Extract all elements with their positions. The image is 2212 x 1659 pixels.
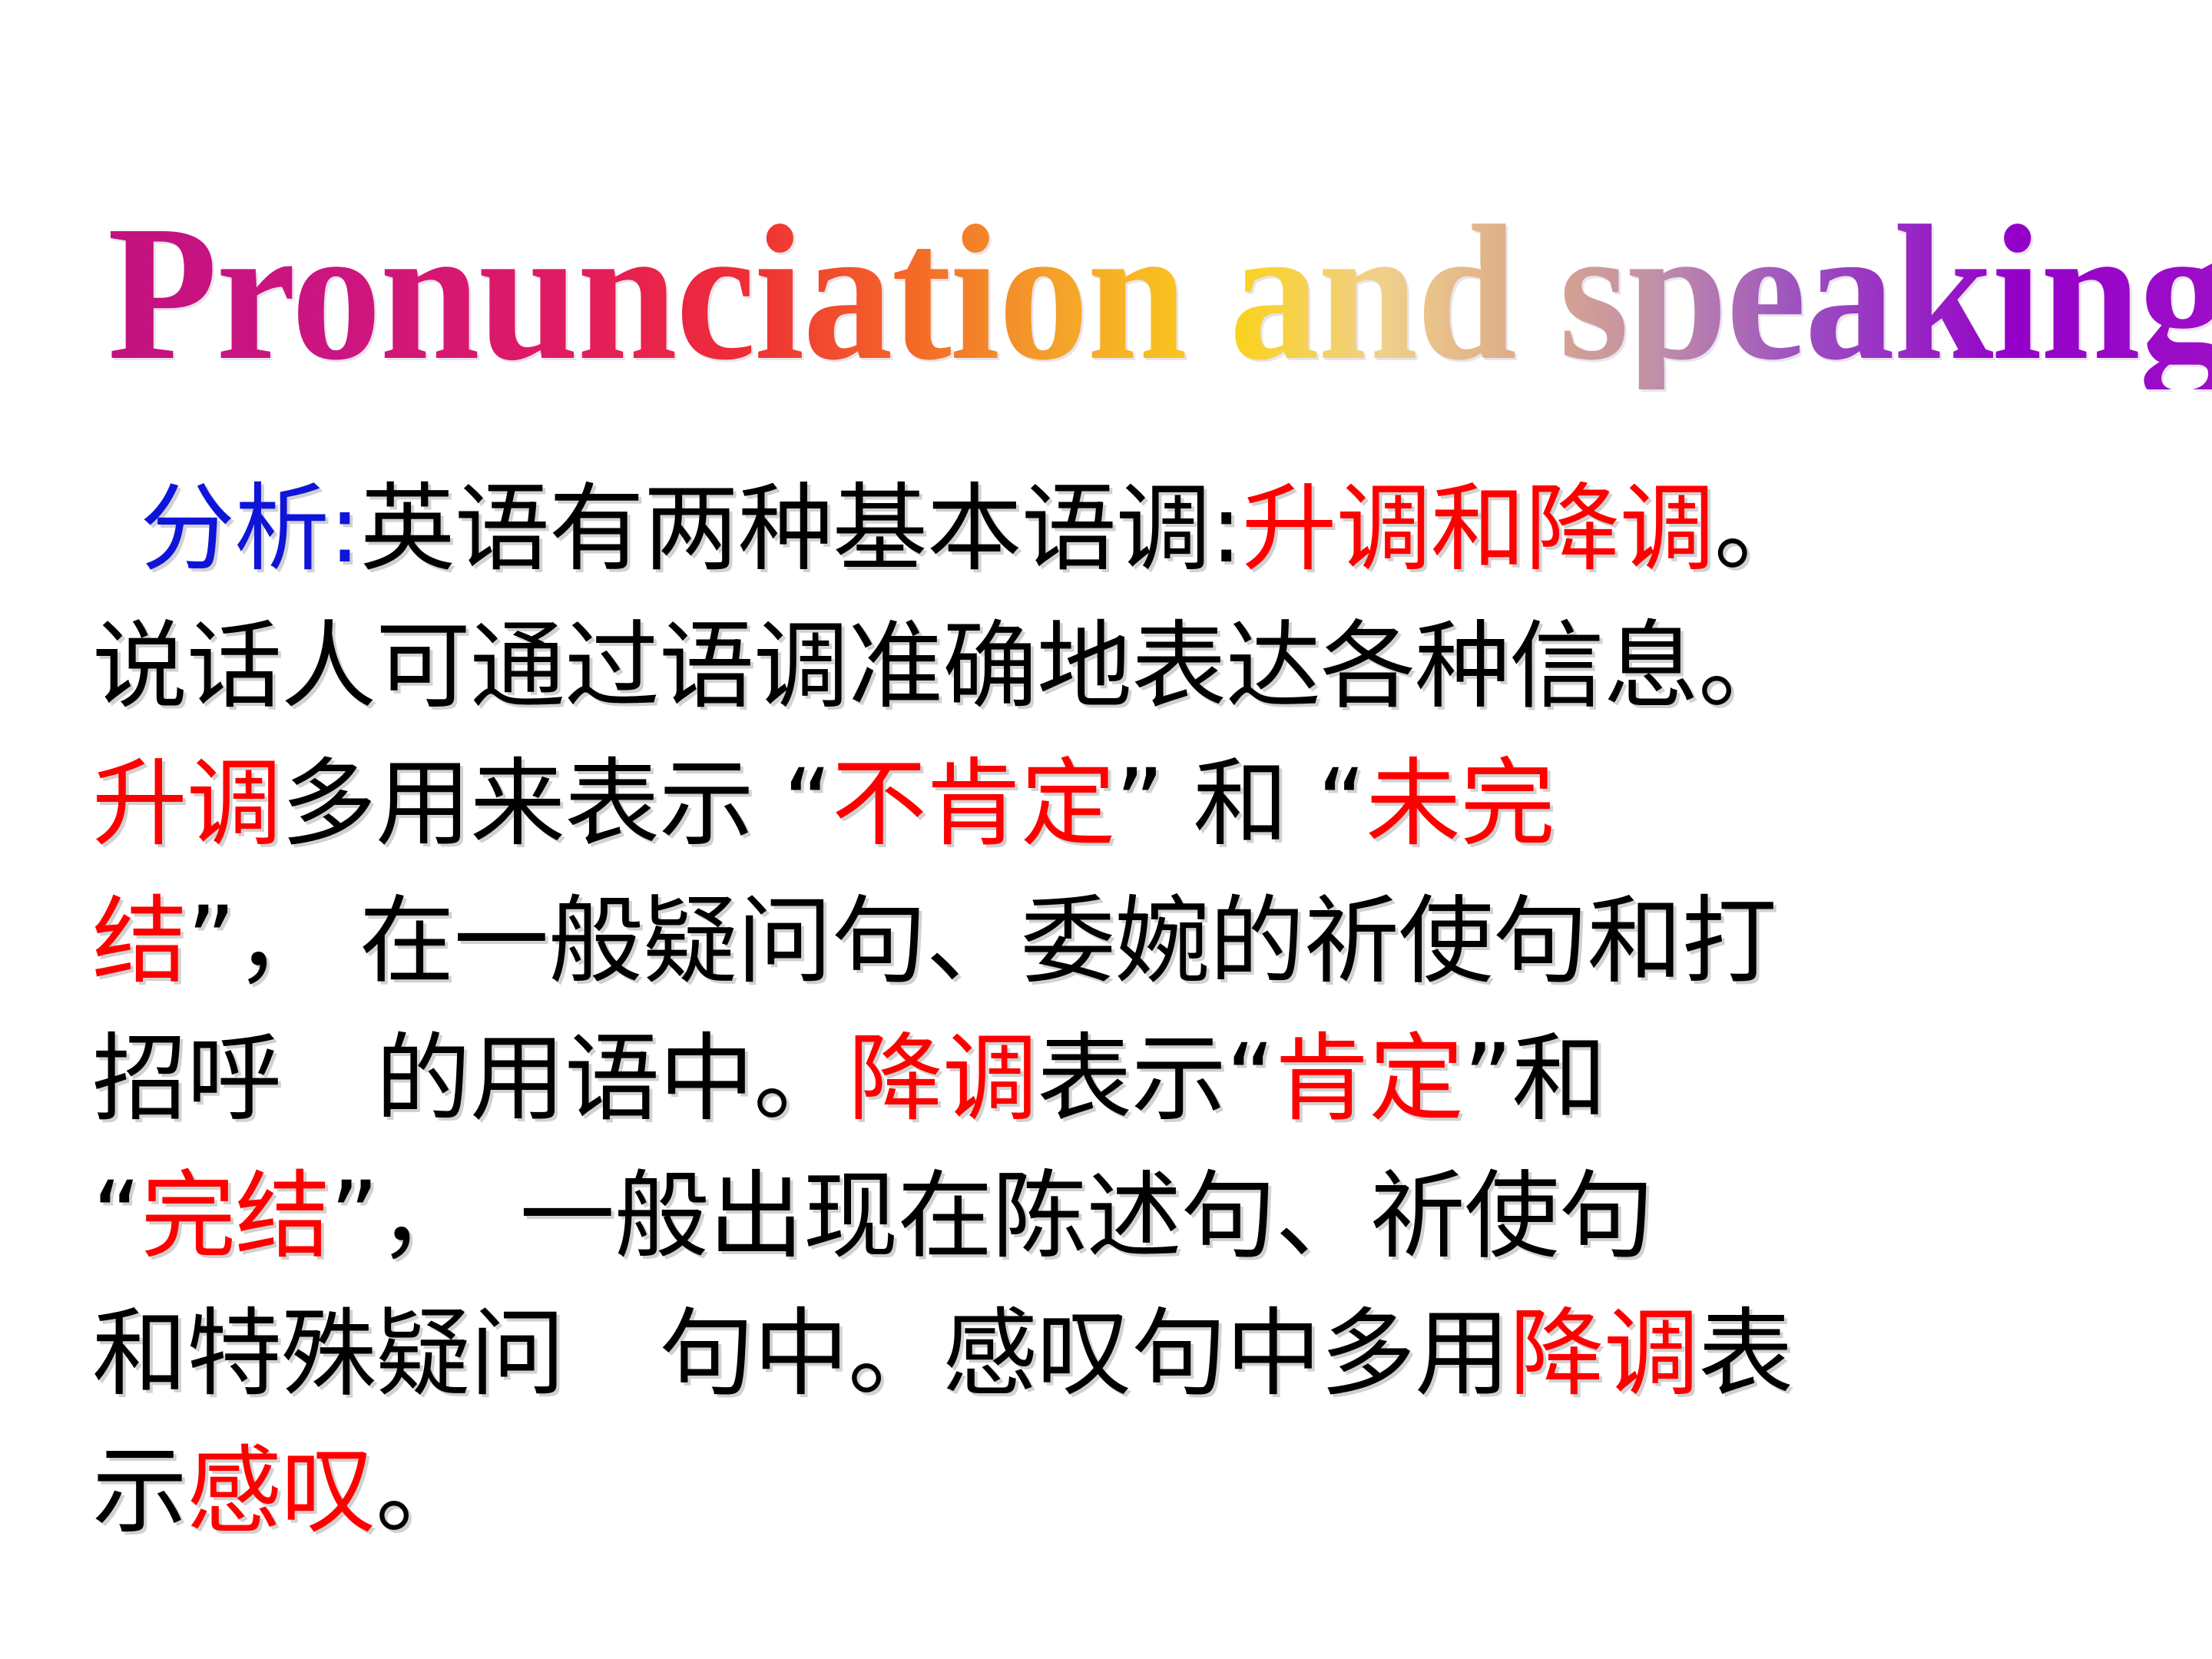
text-run-red: 降调 [848,1024,1037,1134]
body-line-4: 结”， 在一般疑问句、委婉的祈使句和打 [92,873,2166,1011]
text-run-black: 英语有两种基本语调: [360,474,1242,584]
text-run-black: 招呼 的用语中。 [92,1024,848,1134]
text-run-blue: 分析: [140,474,360,584]
text-run-black: 。 [1714,474,1809,584]
text-run-red: 升调和降调 [1242,474,1714,584]
text-run-black: 表示“ [1037,1024,1274,1134]
body-line-3: 升调多用来表示 “不肯定” 和 “未完 [92,736,2166,873]
text-run-black: ”， 在一般疑问句、委婉的祈使句和打 [187,886,1777,997]
text-run-black: 示 [92,1436,187,1547]
body-line-8: 示感叹。 [92,1423,2166,1561]
text-run-black: 表 [1698,1299,1793,1409]
text-run-red: 感叹 [187,1436,376,1547]
text-run-red: 不肯定 [832,749,1115,859]
text-run-black: ” 和 “ [1115,749,1366,859]
slide-title-area: Pronunciation and speaking [0,196,2212,426]
body-line-2: 说话人可通过语调准确地表达各种信息。 [92,598,2166,736]
text-run-black: ”， 一般出现在陈述句、祈使句 [329,1161,1653,1272]
body-line-5: 招呼 的用语中。降调表示“肯定”和 [92,1011,2166,1148]
body-line-6: “完结”， 一般出现在陈述句、祈使句 [92,1148,2166,1286]
body-line-1: 分析:英语有两种基本语调:升调和降调。 [92,461,2166,598]
body-line-7: 和特殊疑问 句中。感叹句中多用降调表 [92,1286,2166,1423]
text-run-red: 完结 [141,1161,329,1272]
text-run-red: 肯定 [1274,1024,1463,1134]
text-run-red: 升调 [92,749,281,859]
slide-canvas: Pronunciation and speaking 分析:英语有两种基本语调:… [0,0,2212,1659]
text-run-red: 降调 [1509,1299,1698,1409]
text-run-red: 未完 [1366,749,1555,859]
text-run-red: 结 [92,886,187,997]
slide-body-text: 分析:英语有两种基本语调:升调和降调。说话人可通过语调准确地表达各种信息。升调多… [92,461,2166,1561]
text-run-black: “ [92,1161,141,1272]
text-run-black: ”和 [1463,1024,1606,1134]
text-run-black: 说话人可通过语调准确地表达各种信息。 [92,611,1793,722]
text-run-black: 。 [376,1436,470,1547]
text-run-black: 多用来表示 “ [281,749,832,859]
text-run-black: 和特殊疑问 句中。感叹句中多用 [92,1299,1509,1409]
page-title: Pronunciation and speaking [108,196,2212,389]
